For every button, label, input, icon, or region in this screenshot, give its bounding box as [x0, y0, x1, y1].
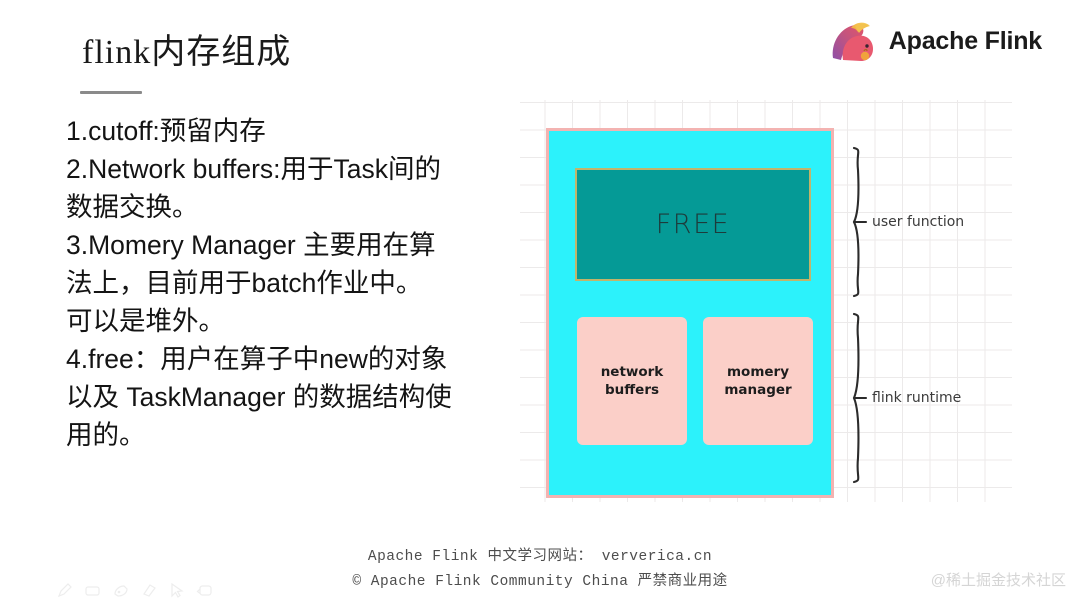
bullet-line: 2.Network buffers:用于Task间的 [66, 150, 536, 188]
flink-runtime-label: flink runtime [872, 390, 961, 406]
memory-diagram: FREE network buffers momery manager user… [498, 100, 998, 510]
memory-manager-label-line2: manager [724, 381, 791, 399]
bullet-line: 以及 TaskManager 的数据结构使 [66, 378, 536, 416]
marker-icon[interactable] [112, 582, 129, 599]
laser-pointer-icon[interactable] [196, 582, 213, 599]
user-function-brace-icon [850, 146, 870, 298]
presenter-ink-toolbar[interactable] [56, 582, 213, 599]
presentation-slide: flink内存组成 [0, 0, 1080, 607]
network-buffers-block: network buffers [577, 317, 687, 445]
runtime-blocks-row: network buffers momery manager [577, 317, 813, 445]
bullet-line: 1.cutoff:预留内存 [66, 112, 536, 150]
bullet-line: 用的。 [66, 416, 536, 454]
network-buffers-label-line1: network [601, 363, 664, 381]
taskmanager-memory-block: FREE network buffers momery manager [546, 128, 834, 498]
network-buffers-label-line2: buffers [605, 381, 659, 399]
bullet-line: 数据交换。 [66, 188, 536, 226]
footer-line-site: Apache Flink 中文学习网站： ververica.cn [0, 545, 1080, 570]
bullet-line: 3.Momery Manager 主要用在算 [66, 226, 536, 264]
bullet-line: 4.free：用户在算子中new的对象 [66, 340, 536, 378]
free-memory-block: FREE [575, 168, 811, 281]
brand-lockup: Apache Flink [829, 18, 1042, 64]
free-block-label: FREE [656, 209, 730, 240]
user-function-label: user function [872, 214, 964, 230]
highlighter-icon[interactable] [84, 582, 101, 599]
brand-name: Apache Flink [889, 27, 1042, 56]
bullet-line: 可以是堆外。 [66, 302, 536, 340]
apache-flink-squirrel-logo-icon [829, 18, 879, 64]
pen-icon[interactable] [56, 582, 73, 599]
flink-runtime-brace-icon [850, 312, 870, 484]
bullet-line: 法上，目前用于batch作业中。 [66, 264, 536, 302]
cursor-icon[interactable] [168, 582, 185, 599]
eraser-icon[interactable] [140, 582, 157, 599]
watermark: @稀土掘金技术社区 [931, 569, 1066, 590]
bullet-text-block: 1.cutoff:预留内存 2.Network buffers:用于Task间的… [66, 112, 536, 454]
page-title: flink内存组成 [82, 24, 291, 73]
title-underline-rule [80, 91, 142, 94]
memory-manager-label-line1: momery [727, 363, 789, 381]
memory-manager-block: momery manager [703, 317, 813, 445]
